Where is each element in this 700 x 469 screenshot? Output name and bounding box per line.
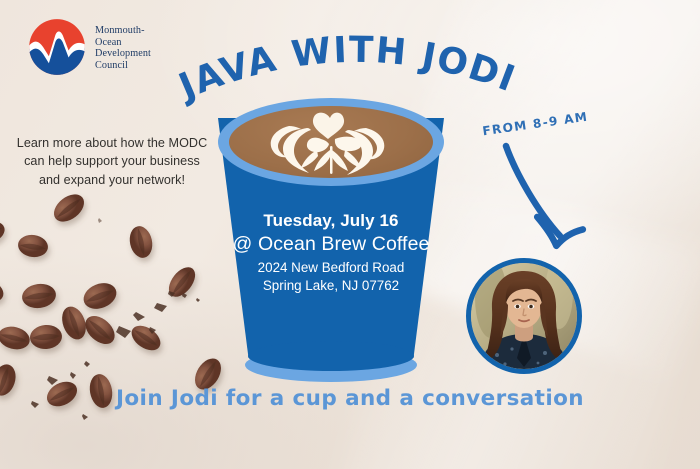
footer-tagline: Join Jodi for a cup and a conversation — [0, 386, 700, 411]
event-address-line-2: Spring Lake, NJ 07762 — [218, 277, 444, 295]
blurb-line-2: can help support your business — [8, 152, 216, 170]
blurb-line-1: Learn more about how the MODC — [8, 134, 216, 152]
blurb-line-3: and expand your network! — [8, 171, 216, 189]
logo-line-3: Development — [95, 48, 151, 60]
cup-base-inner — [248, 341, 414, 371]
poster-canvas: Monmouth- Ocean Development Council JAVA… — [0, 0, 700, 469]
cup-event-details: Tuesday, July 16 @ Ocean Brew Coffee 202… — [218, 210, 444, 294]
event-venue: @ Ocean Brew Coffee — [218, 232, 444, 257]
modc-logo-text: Monmouth- Ocean Development Council — [95, 18, 151, 71]
avatar-image — [471, 263, 577, 369]
logo-line-1: Monmouth- — [95, 25, 151, 37]
logo-line-2: Ocean — [95, 37, 151, 49]
event-date: Tuesday, July 16 — [218, 210, 444, 232]
modc-logo[interactable]: Monmouth- Ocean Development Council — [28, 18, 151, 76]
event-address-line-1: 2024 New Bedford Road — [218, 259, 444, 277]
intro-blurb: Learn more about how the MODC can help s… — [8, 134, 216, 189]
rosetta-latte-art-icon — [229, 106, 433, 178]
logo-line-4: Council — [95, 60, 151, 72]
modc-wave-logo-icon — [28, 18, 86, 76]
curved-down-arrow-icon — [498, 140, 608, 260]
coffee-cup-graphic: Tuesday, July 16 @ Ocean Brew Coffee 202… — [218, 98, 444, 374]
cup-coffee-surface — [229, 106, 433, 178]
jodi-headshot-avatar — [466, 258, 582, 374]
